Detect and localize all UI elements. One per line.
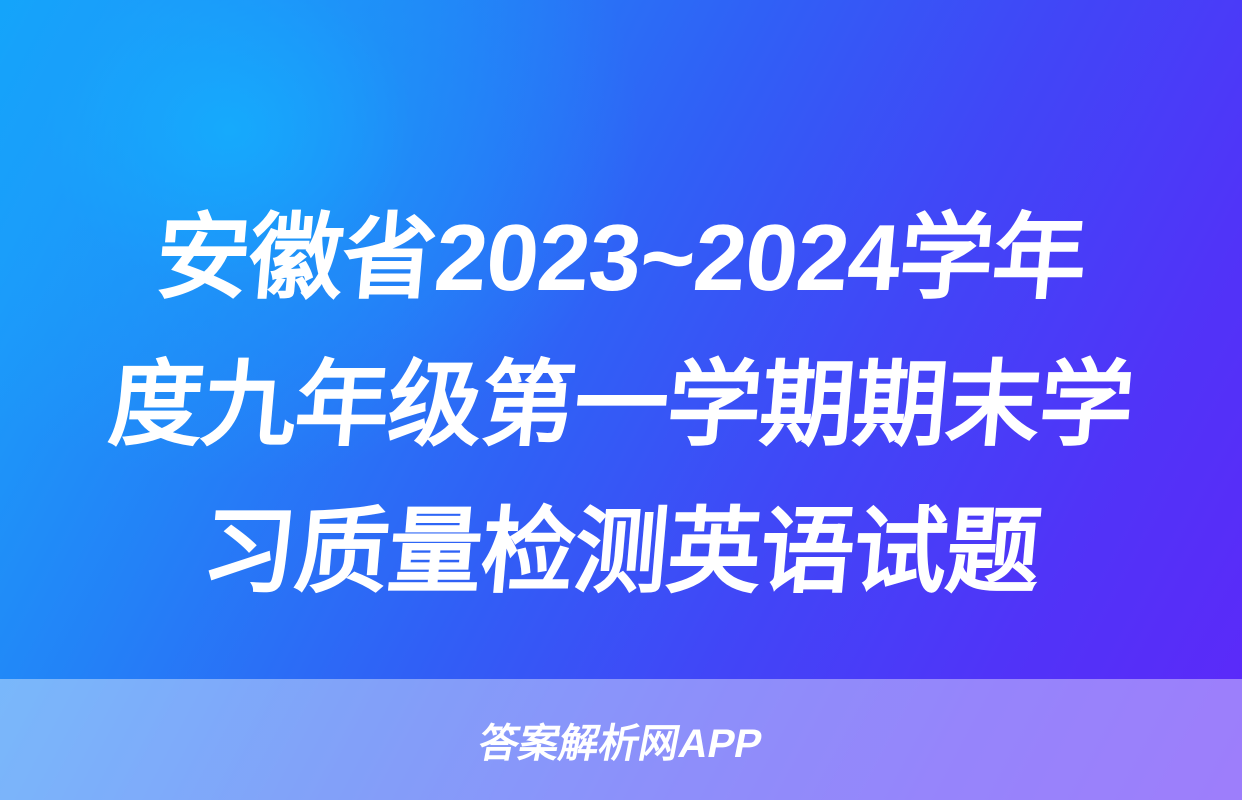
cover-canvas: 安徽省2023~2024学年 度九年级第一学期期末学 习质量检测英语试题 答案解… <box>0 0 1242 800</box>
title-line-1: 安徽省2023~2024学年 <box>34 184 1209 331</box>
title-line-3: 习质量检测英语试题 <box>34 478 1209 625</box>
page-title: 安徽省2023~2024学年 度九年级第一学期期末学 习质量检测英语试题 <box>0 184 1242 625</box>
footer-brand-label: 答案解析网APP <box>474 711 768 769</box>
footer-brand-band: 答案解析网APP <box>0 679 1242 800</box>
title-line-2: 度九年级第一学期期末学 <box>34 331 1209 478</box>
